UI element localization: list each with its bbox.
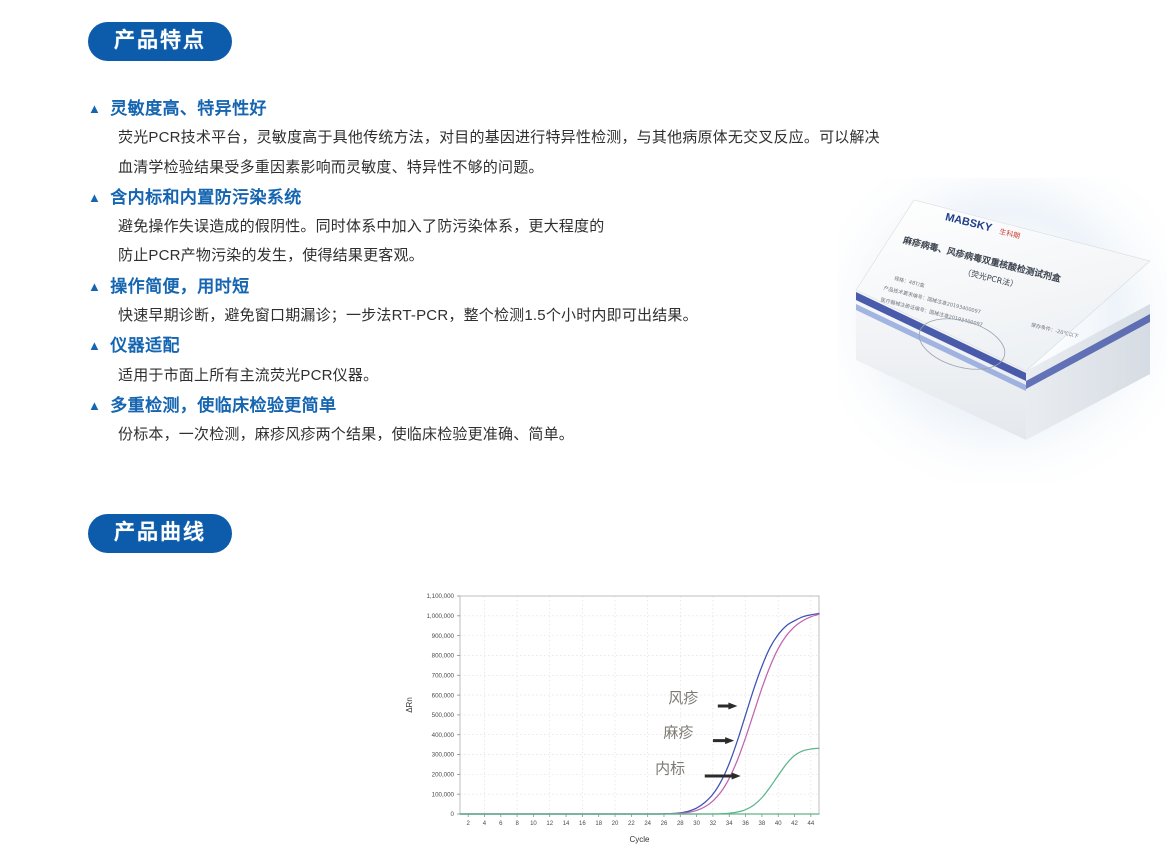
chart-x-tick-label: 20 [612, 821, 619, 827]
feature-body-line: 份标本，一次检测，麻疹风疹两个结果，使临床检验更准确、简单。 [118, 420, 1068, 449]
chart-y-tick-label: 400,000 [432, 732, 455, 739]
chart-y-tick-label: 600,000 [432, 692, 455, 699]
chart-y-tick-label: 100,000 [432, 791, 455, 798]
chart-y-ticks: 0100,000200,000300,000400,000500,000600,… [426, 593, 454, 818]
chart-y-axis-title: ΔRn [405, 697, 414, 713]
chart-y-tick-label: 800,000 [432, 653, 455, 660]
feature-body: 适用于市面上所有主流荧光PCR仪器。 [88, 361, 1068, 390]
feature-body: 避免操作失误造成的假阴性。同时体系中加入了防污染体系，更大程度的 防止PCR产物… [88, 212, 1068, 271]
chart-x-tick-label: 30 [693, 821, 700, 827]
chart-x-tick-label: 26 [661, 821, 668, 827]
section-heading-features: 产品特点 [88, 22, 232, 61]
triangle-bullet-icon: ▲ [88, 102, 101, 115]
chart-x-tick-label: 28 [677, 821, 684, 827]
chart-x-tick-label: 24 [644, 821, 651, 827]
feature-item: ▲ 仪器适配 适用于市面上所有主流荧光PCR仪器。 [88, 333, 1068, 390]
feature-title-row: ▲ 操作简便，用时短 [88, 274, 1068, 300]
chart-x-tick-label: 32 [710, 821, 717, 827]
feature-title-row: ▲ 灵敏度高、特异性好 [88, 96, 1068, 122]
chart-annotation-label: 麻疹 [663, 725, 693, 742]
feature-body: 快速早期诊断，避免窗口期漏诊；一步法RT-PCR，整个检测1.5个小时内即可出结… [88, 301, 1068, 330]
feature-item: ▲ 操作简便，用时短 快速早期诊断，避免窗口期漏诊；一步法RT-PCR，整个检测… [88, 274, 1068, 331]
feature-body-line: 荧光PCR技术平台，灵敏度高于具他传统方法，对目的基因进行特异性检测，与其他病原… [118, 123, 1068, 152]
chart-x-tick-label: 10 [530, 821, 537, 827]
chart-x-tick-label: 16 [579, 821, 586, 827]
feature-item: ▲ 灵敏度高、特异性好 荧光PCR技术平台，灵敏度高于具他传统方法，对目的基因进… [88, 96, 1068, 182]
amplification-chart-svg: 0100,000200,000300,000400,000500,000600,… [392, 582, 832, 858]
feature-item: ▲ 多重检测，使临床检验更简单 份标本，一次检测，麻疹风疹两个结果，使临床检验更… [88, 393, 1068, 450]
section-heading-curve: 产品曲线 [88, 514, 232, 553]
chart-annotation-label: 内标 [655, 760, 685, 777]
amplification-chart: 0100,000200,000300,000400,000500,000600,… [392, 582, 832, 858]
chart-x-tick-label: 18 [595, 821, 602, 827]
chart-y-tick-label: 0 [451, 811, 455, 818]
chart-y-tick-label: 700,000 [432, 672, 455, 679]
chart-x-tick-label: 42 [791, 821, 798, 827]
feature-title: 操作简便，用时短 [110, 274, 249, 300]
chart-x-tick-label: 40 [775, 821, 782, 827]
feature-body: 份标本，一次检测，麻疹风疹两个结果，使临床检验更准确、简单。 [88, 420, 1068, 449]
chart-x-tick-label: 6 [499, 821, 503, 827]
feature-item: ▲ 含内标和内置防污染系统 避免操作失误造成的假阴性。同时体系中加入了防污染体系… [88, 185, 1068, 271]
feature-title-row: ▲ 仪器适配 [88, 333, 1068, 359]
chart-x-tick-label: 8 [515, 821, 519, 827]
feature-title: 灵敏度高、特异性好 [110, 96, 267, 122]
feature-title-row: ▲ 多重检测，使临床检验更简单 [88, 393, 1068, 419]
triangle-bullet-icon: ▲ [88, 399, 101, 412]
chart-x-tick-label: 38 [759, 821, 766, 827]
feature-body-line: 快速早期诊断，避免窗口期漏诊；一步法RT-PCR，整个检测1.5个小时内即可出结… [118, 301, 1068, 330]
chart-x-tick-label: 14 [563, 821, 570, 827]
chart-x-tick-label: 4 [483, 821, 487, 827]
chart-x-tick-label: 36 [742, 821, 749, 827]
chart-x-axis-title: Cycle [629, 835, 650, 844]
triangle-bullet-icon: ▲ [88, 280, 101, 293]
chart-gridlines [460, 596, 819, 814]
chart-y-tick-label: 500,000 [432, 712, 455, 719]
chart-y-tick-label: 1,000,000 [426, 613, 454, 620]
feature-body-line: 适用于市面上所有主流荧光PCR仪器。 [118, 361, 1068, 390]
chart-y-tick-label: 300,000 [432, 752, 455, 759]
feature-body-line: 避免操作失误造成的假阴性。同时体系中加入了防污染体系，更大程度的 [118, 212, 1068, 241]
chart-y-tick-label: 200,000 [432, 772, 455, 779]
triangle-bullet-icon: ▲ [88, 191, 101, 204]
chart-x-tick-label: 44 [807, 821, 814, 827]
feature-list: ▲ 灵敏度高、特异性好 荧光PCR技术平台，灵敏度高于具他传统方法，对目的基因进… [88, 96, 1068, 452]
chart-annotation-label: 风疹 [668, 690, 698, 707]
feature-title: 仪器适配 [110, 333, 180, 359]
feature-title: 多重检测，使临床检验更简单 [110, 393, 336, 419]
feature-body: 荧光PCR技术平台，灵敏度高于具他传统方法，对目的基因进行特异性检测，与其他病原… [88, 123, 1068, 182]
feature-title: 含内标和内置防污染系统 [110, 185, 301, 211]
triangle-bullet-icon: ▲ [88, 339, 101, 352]
chart-x-tick-label: 34 [726, 821, 733, 827]
feature-body-line: 防止PCR产物污染的发生，使得结果更客观。 [118, 241, 1068, 270]
chart-x-tick-label: 2 [466, 821, 470, 827]
chart-y-tick-label: 1,100,000 [426, 593, 454, 600]
chart-x-tick-label: 12 [546, 821, 553, 827]
feature-title-row: ▲ 含内标和内置防污染系统 [88, 185, 1068, 211]
feature-body-line: 血清学检验结果受多重因素影响而灵敏度、特异性不够的问题。 [118, 153, 1068, 182]
chart-y-tick-label: 900,000 [432, 633, 455, 640]
chart-x-tick-label: 22 [628, 821, 635, 827]
chart-x-ticks: 2468101214161820222426283032343638404244 [466, 821, 814, 827]
